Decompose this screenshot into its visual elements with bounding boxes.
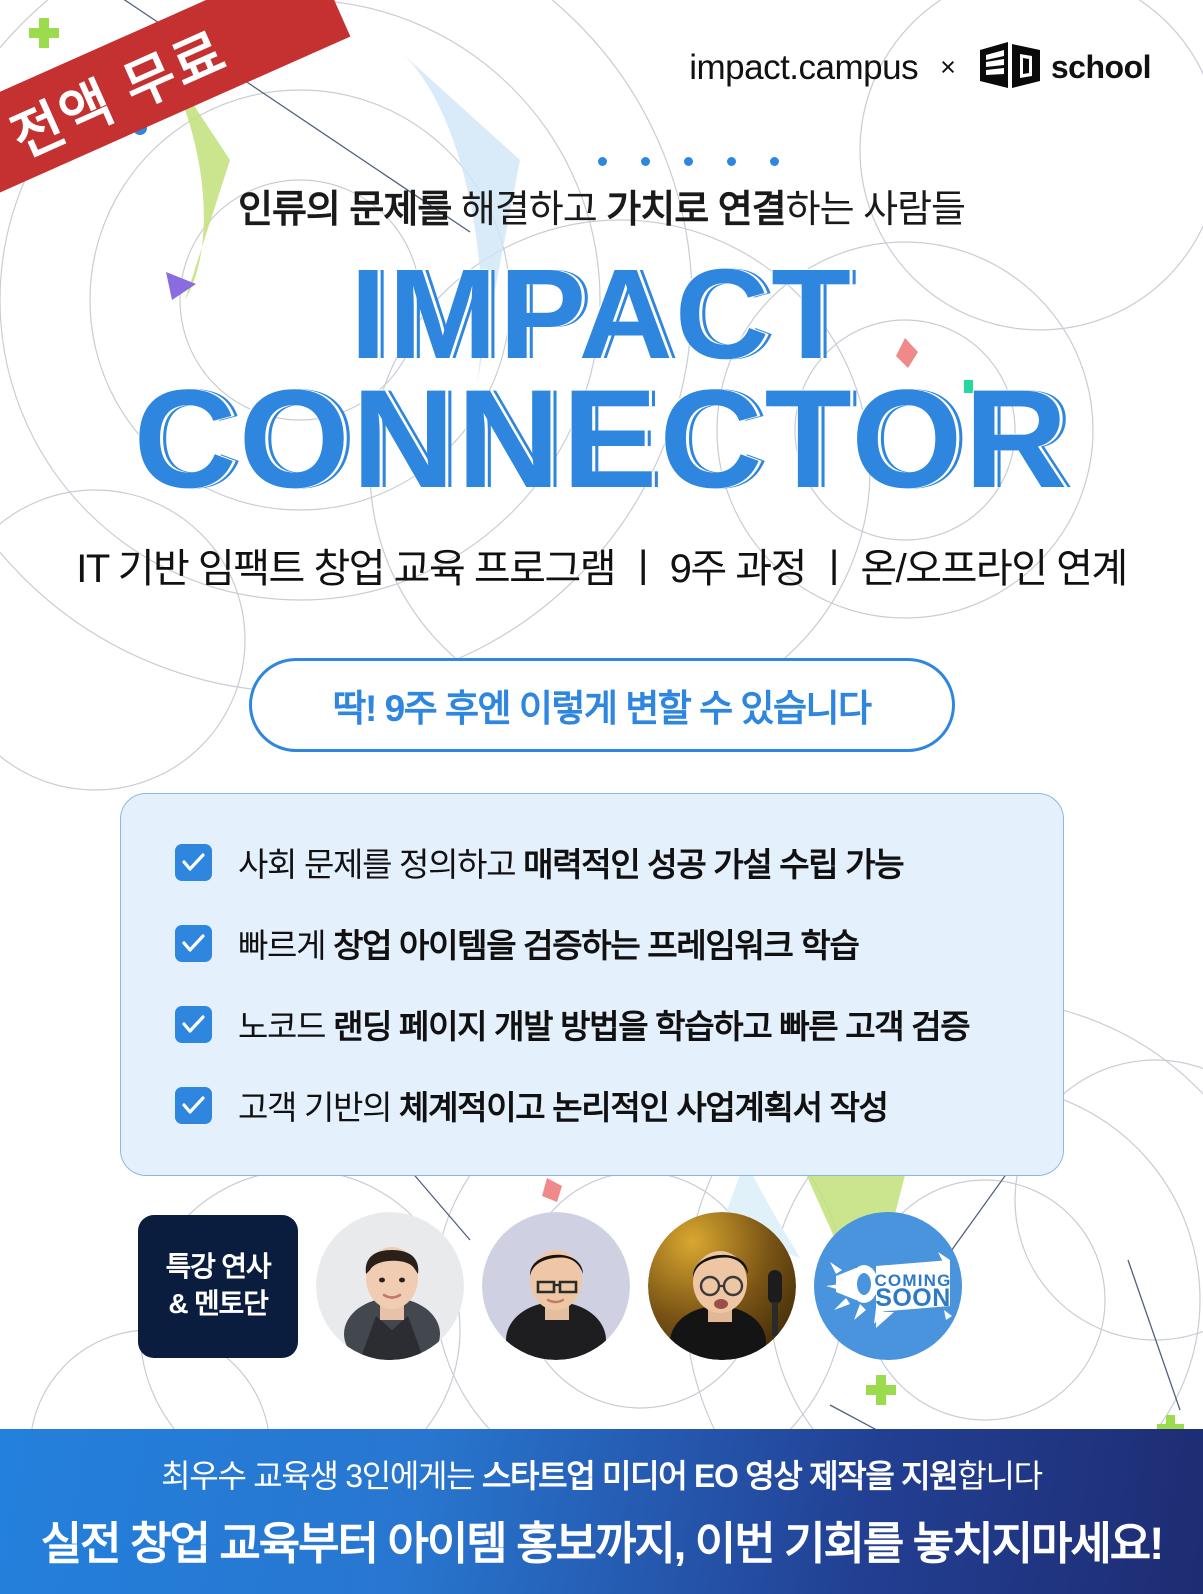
avatar [482, 1212, 630, 1360]
avatar [648, 1212, 796, 1360]
tagline-dots-icon [598, 157, 779, 166]
list-item: 노코드 랜딩 페이지 개발 방법을 학습하고 빠른 고객 검증 [121, 1000, 1063, 1048]
speakers-label-line-2: & 멘토단 [168, 1286, 267, 1323]
program-subtitle: IT 기반 임팩트 창업 교육 프로그램 ㅣ 9주 과정 ㅣ 온/오프라인 연계 [0, 536, 1203, 594]
collab-x-icon: × [940, 52, 956, 83]
poster-root: 전액 무료 impact.campus × school [0, 0, 1203, 1594]
program-title: IMPACT CONNECTOR [0, 257, 1203, 502]
footer-line-1-normal-b: 합니다 [957, 1458, 1041, 1494]
list-item: 사회 문제를 정의하고 매력적인 성공 가설 수립 가능 [121, 838, 1063, 886]
checkmark-icon [175, 1006, 212, 1043]
tagline-normal-1: 해결하고 [451, 189, 606, 231]
checkmark-icon [175, 844, 212, 881]
benefit-text-normal: 사회 문제를 정의하고 [238, 846, 523, 883]
footer-line-1-bold: 스타트업 미디어 EO 영상 제작을 지원 [482, 1458, 958, 1494]
benefit-text-normal: 고객 기반의 [238, 1089, 399, 1126]
eo-school-label: school [1051, 49, 1151, 86]
footer-line-2: 실전 창업 교육부터 아이템 홍보까지, 이번 기회를 놓치지마세요! [41, 1507, 1162, 1572]
coming-soon-badge: COMING SOON [814, 1212, 962, 1360]
benefits-checklist: 사회 문제를 정의하고 매력적인 성공 가설 수립 가능 빠르게 창업 아이템을… [120, 793, 1064, 1176]
list-item: 빠르게 창업 아이템을 검증하는 프레임워크 학습 [121, 919, 1063, 967]
tagline-bold-1: 인류의 문제를 [238, 189, 451, 231]
eo-school-logo: school [978, 42, 1151, 93]
benefit-text: 고객 기반의 체계적이고 논리적인 사업계획서 작성 [238, 1081, 888, 1129]
tagline-normal-2: 하는 사람들 [786, 189, 965, 231]
logo-row: impact.campus × school [689, 42, 1151, 93]
benefit-text-bold: 랜딩 페이지 개발 방법을 학습하고 빠른 고객 검증 [333, 1008, 969, 1045]
benefit-text-bold: 매력적인 성공 가설 수립 가능 [523, 846, 903, 883]
list-item: 고객 기반의 체계적이고 논리적인 사업계획서 작성 [121, 1081, 1063, 1129]
speakers-label-line-1: 특강 연사 [166, 1249, 271, 1286]
benefit-text-normal: 빠르게 [238, 927, 333, 964]
speakers-label-card: 특강 연사 & 멘토단 [138, 1215, 298, 1358]
promise-pill-label: 딱! 9주 후엔 이렇게 변할 수 있습니다 [332, 678, 870, 732]
headline-block: 인류의 문제를 해결하고 가치로 연결하는 사람들 IMPACT CONNECT… [0, 178, 1203, 594]
benefit-text: 사회 문제를 정의하고 매력적인 성공 가설 수립 가능 [238, 838, 903, 886]
footer-line-1: 최우수 교육생 3인에게는 스타트업 미디어 EO 영상 제작을 지원합니다 [161, 1451, 1042, 1497]
coming-soon-line-2: SOON [875, 1284, 951, 1312]
checkmark-icon [175, 925, 212, 962]
avatar [316, 1212, 464, 1360]
impact-campus-logo: impact.campus [689, 48, 918, 88]
program-title-line-1: IMPACT [0, 257, 1203, 372]
benefit-text-normal: 노코드 [238, 1008, 333, 1045]
benefit-text-bold: 체계적이고 논리적인 사업계획서 작성 [399, 1089, 888, 1126]
benefit-text: 노코드 랜딩 페이지 개발 방법을 학습하고 빠른 고객 검증 [238, 1000, 969, 1048]
benefit-text: 빠르게 창업 아이템을 검증하는 프레임워크 학습 [238, 919, 859, 967]
tagline: 인류의 문제를 해결하고 가치로 연결하는 사람들 [238, 178, 965, 233]
benefit-text-bold: 창업 아이템을 검증하는 프레임워크 학습 [333, 927, 859, 964]
free-ribbon-label: 전액 무료 [0, 7, 237, 173]
tagline-bold-2: 가치로 연결 [606, 189, 785, 231]
checkmark-icon [175, 1087, 212, 1124]
program-title-line-2: CONNECTOR [0, 376, 1203, 502]
promise-pill: 딱! 9주 후엔 이렇게 변할 수 있습니다 [249, 658, 955, 752]
footer-banner: 최우수 교육생 3인에게는 스타트업 미디어 EO 영상 제작을 지원합니다 실… [0, 1429, 1203, 1594]
eo-logo-mark-icon [978, 42, 1042, 93]
footer-line-1-normal-a: 최우수 교육생 3인에게는 [161, 1458, 482, 1494]
speakers-row: 특강 연사 & 멘토단 [138, 1212, 962, 1360]
